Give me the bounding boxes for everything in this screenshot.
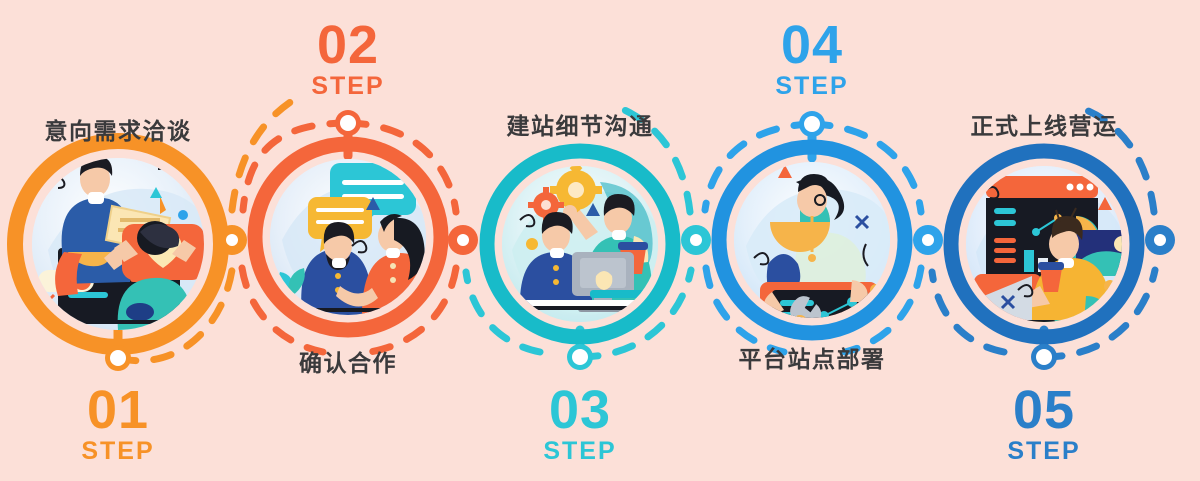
step-number-03: 03 STEP xyxy=(518,383,642,464)
step-number-04-value: 04 xyxy=(750,18,874,72)
stem-dot-04[interactable] xyxy=(799,111,825,137)
step-circle-05[interactable] xyxy=(951,151,1137,340)
step-circle-02[interactable] xyxy=(255,144,441,330)
step-number-02: 02 STEP xyxy=(286,18,410,99)
step-number-02-word: STEP xyxy=(286,74,410,99)
illustration-03 xyxy=(502,162,662,322)
connector-dot-4[interactable] xyxy=(913,225,943,255)
illustration-01 xyxy=(32,156,216,331)
step-number-01: 01 STEP xyxy=(56,383,180,464)
step-title-03: 建站细节沟通 xyxy=(462,107,698,141)
step-number-02-value: 02 xyxy=(286,18,410,72)
stem-dot-01[interactable] xyxy=(105,345,131,371)
step-number-05-word: STEP xyxy=(982,439,1106,464)
stem-dot-05[interactable] xyxy=(1031,344,1057,370)
step-title-01: 意向需求洽谈 xyxy=(0,112,236,146)
connector-dot-5[interactable] xyxy=(1145,225,1175,255)
step-number-03-value: 03 xyxy=(518,383,642,437)
step-number-01-word: STEP xyxy=(56,439,180,464)
step-number-03-word: STEP xyxy=(518,439,642,464)
step-circle-01[interactable] xyxy=(15,141,221,347)
step-circle-03[interactable] xyxy=(487,151,673,337)
step-number-01-value: 01 xyxy=(56,383,180,437)
step-title-04: 平台站点部署 xyxy=(694,340,930,374)
stem-dot-02[interactable] xyxy=(335,110,361,136)
connector-dot-1[interactable] xyxy=(217,225,247,255)
step-number-05: 05 STEP xyxy=(982,383,1106,464)
stem-dot-03[interactable] xyxy=(567,344,593,370)
illustration-02 xyxy=(270,159,432,315)
step-title-05: 正式上线营运 xyxy=(926,107,1162,141)
connector-dot-3[interactable] xyxy=(681,225,711,255)
step-title-02: 确认合作 xyxy=(230,344,466,378)
step-number-04-word: STEP xyxy=(750,74,874,99)
step-number-05-value: 05 xyxy=(982,383,1106,437)
step-number-04: 04 STEP xyxy=(750,18,874,99)
connector-dot-2[interactable] xyxy=(448,225,478,255)
step-flow-infographic: 意向需求洽谈 确认合作 建站细节沟通 平台站点部署 正式上线营运 01 STEP… xyxy=(0,0,1200,481)
